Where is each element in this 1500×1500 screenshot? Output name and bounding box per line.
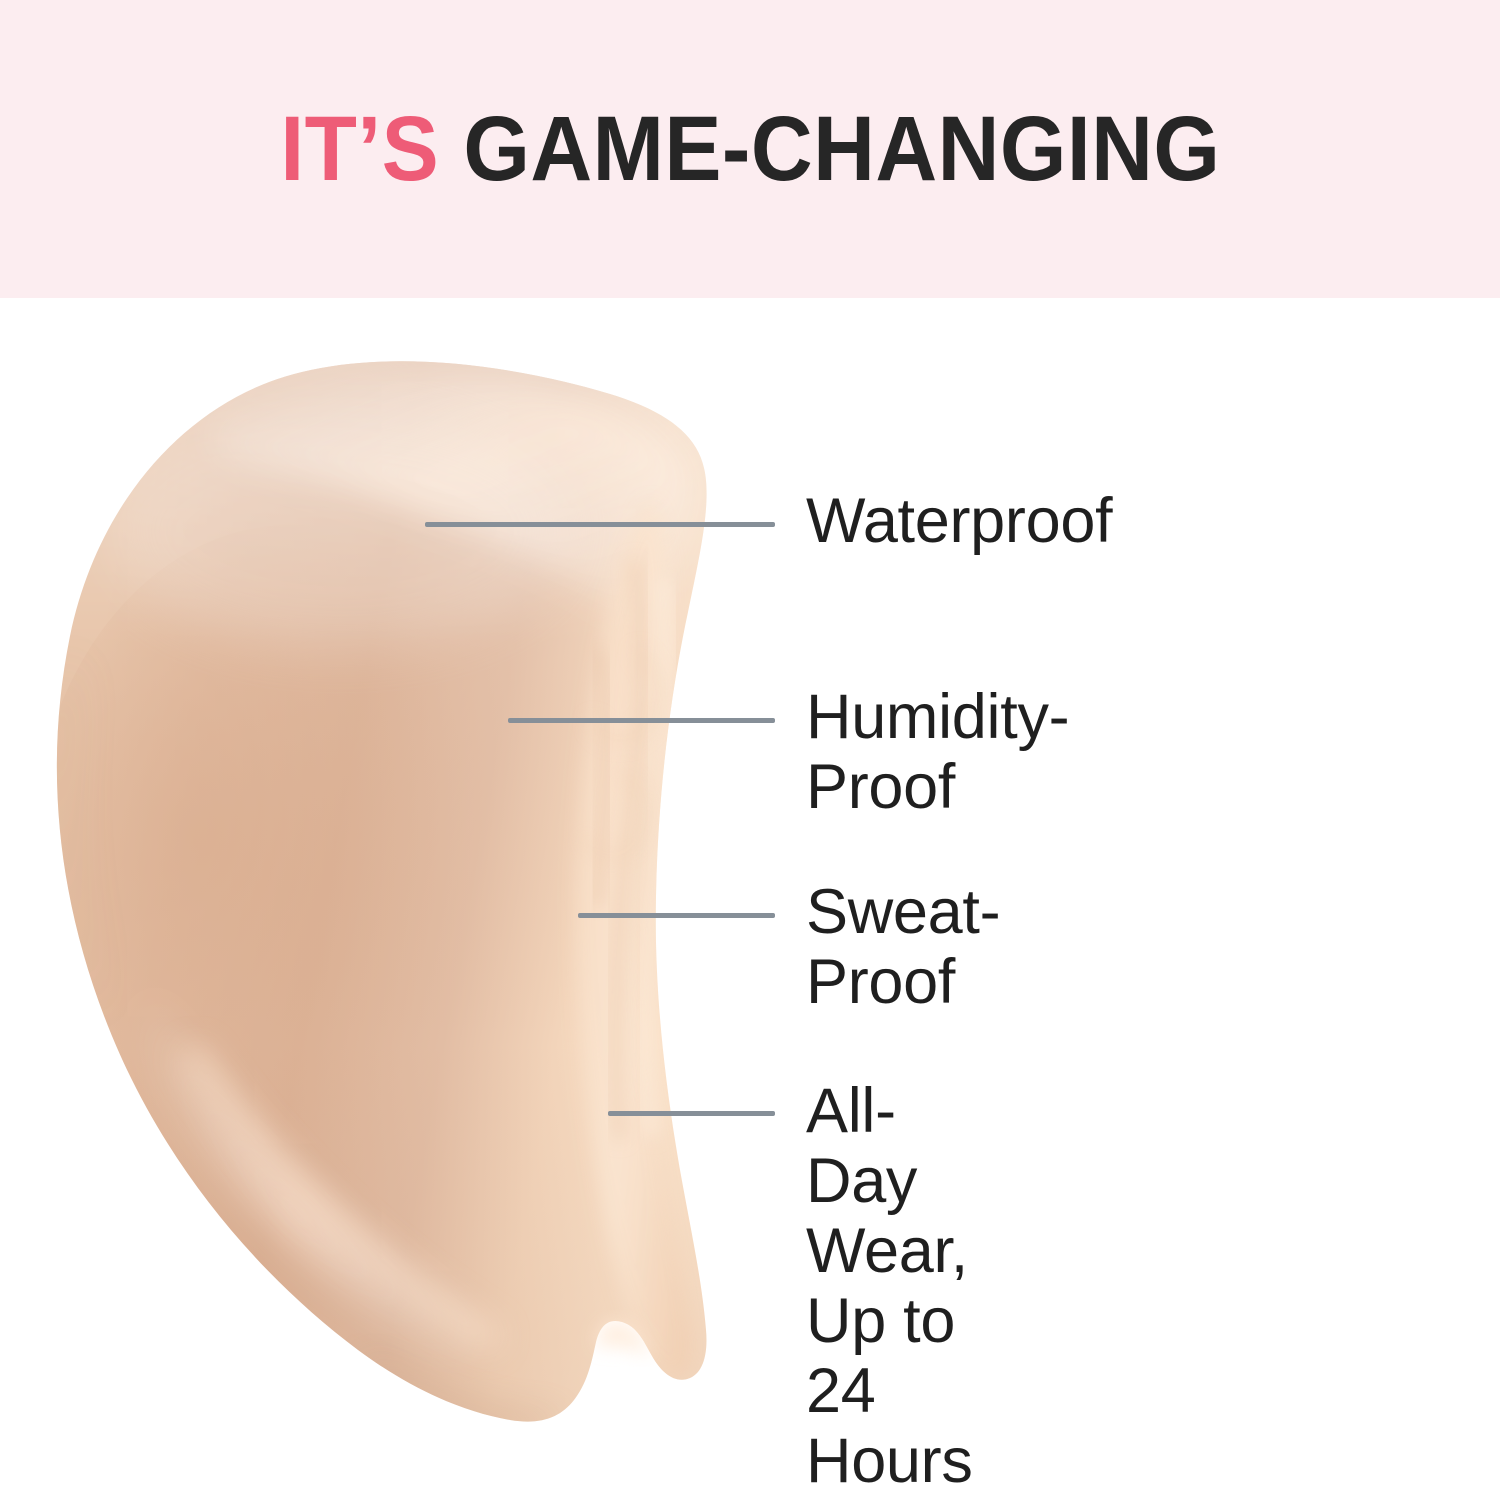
leader-line-humidity-proof <box>508 718 775 723</box>
callout-label-waterproof: Waterproof <box>806 486 1112 556</box>
title-rest-word: GAME-CHANGING <box>439 98 1220 200</box>
marketing-image-canvas: IT’S GAME-CHANGING <box>0 0 1500 1500</box>
leader-line-waterproof <box>425 522 775 527</box>
callout-label-sweat-proof: Sweat-Proof <box>806 877 1000 1017</box>
page-title: IT’S GAME-CHANGING <box>0 0 1500 298</box>
callout-label-humidity-proof: Humidity-Proof <box>806 682 1069 822</box>
leader-line-sweat-proof <box>578 913 775 918</box>
title-accent-word: IT’S <box>280 98 439 200</box>
foundation-swatch <box>40 350 800 1470</box>
callout-label-all-day-wear: All-Day Wear, Up to 24 Hours <box>806 1076 973 1496</box>
leader-line-all-day-wear <box>608 1111 775 1116</box>
